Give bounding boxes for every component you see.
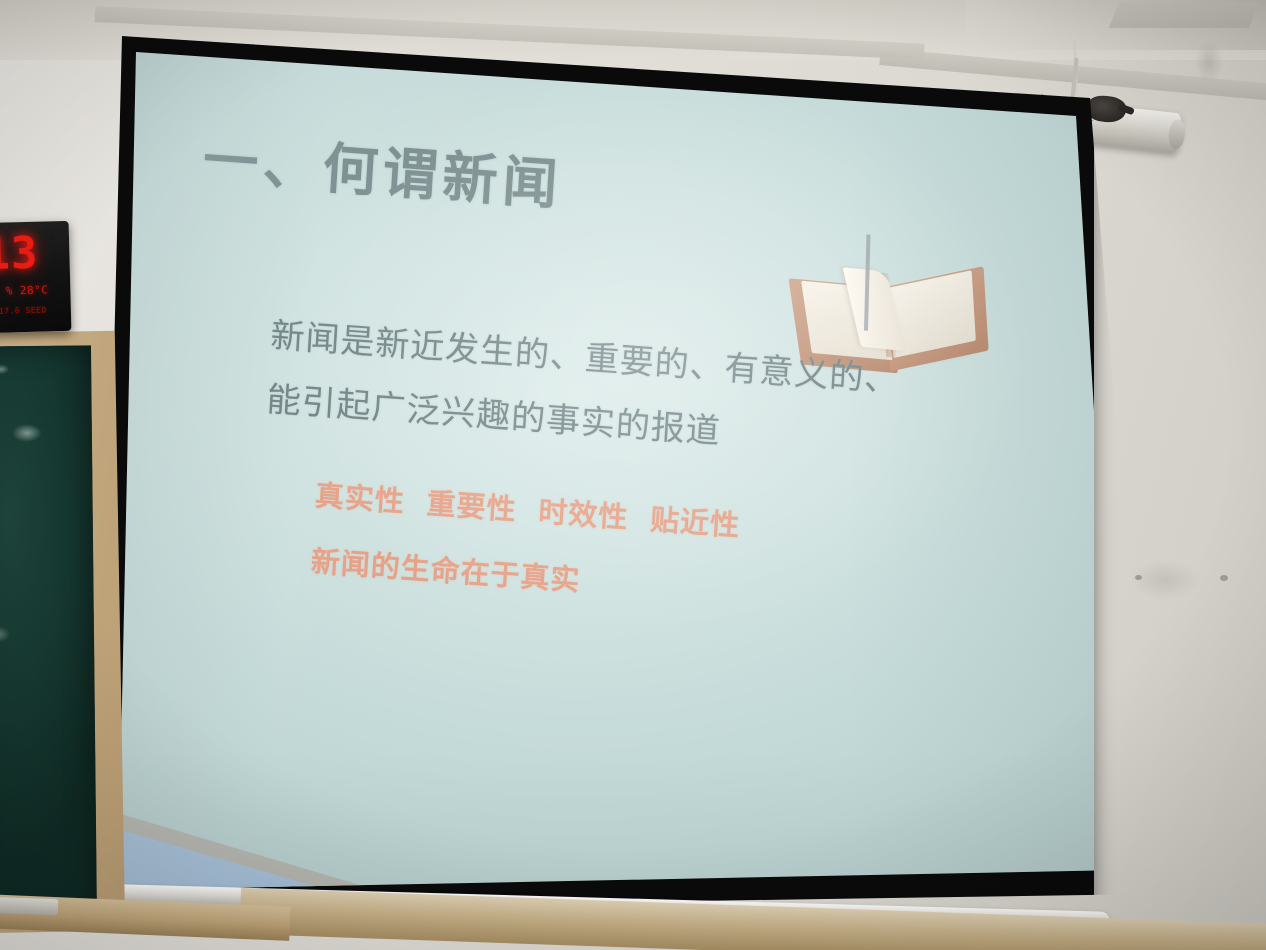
ceiling-vent bbox=[1109, 2, 1260, 28]
chalk-mark bbox=[0, 626, 10, 642]
keyword-truthfulness: 真实性 bbox=[314, 480, 406, 518]
clock-secondary-display: 17.6 SEED bbox=[0, 305, 47, 315]
keyword-timeliness: 时效性 bbox=[537, 496, 629, 534]
slide-title: 一、何谓新闻 bbox=[201, 130, 564, 216]
slide-tagline: 新闻的生命在于真实 bbox=[310, 538, 582, 599]
board-eraser[interactable] bbox=[0, 897, 58, 916]
wall-smudge bbox=[1130, 560, 1200, 600]
clock-humidity-temp-display: 48 % 28°C bbox=[0, 283, 49, 298]
classroom-photo-scene: Viewstar 一、何谓新闻 新闻是新近发生的、重 bbox=[0, 0, 1266, 950]
projection-canvas[interactable]: 一、何谓新闻 新闻是新近发生的、重要的、有意义的、 能引起广泛兴趣的事实的报道 … bbox=[104, 14, 1094, 912]
chalk-mark bbox=[0, 364, 9, 374]
chalk-mark bbox=[12, 424, 42, 442]
slide-content: 一、何谓新闻 新闻是新近发生的、重要的、有意义的、 能引起广泛兴趣的事实的报道 … bbox=[49, 14, 1091, 950]
keyword-importance: 重要性 bbox=[426, 488, 518, 526]
wall-mark bbox=[1195, 40, 1223, 84]
clock-time-display: 13 bbox=[0, 232, 39, 277]
wall-screw-icon bbox=[1220, 575, 1228, 581]
slide-keyword-row: 真实性重要性时效性贴近性 bbox=[314, 472, 764, 546]
open-book-icon bbox=[782, 210, 995, 377]
digital-clock: 13 48 % 28°C 17.6 SEED bbox=[0, 221, 71, 333]
blackboard-surface[interactable] bbox=[0, 345, 97, 920]
wall-nail-icon bbox=[1135, 575, 1142, 580]
keyword-proximity: 贴近性 bbox=[649, 504, 741, 542]
slide-body-line-2: 能引起广泛兴趣的事实的报道 bbox=[265, 379, 721, 454]
